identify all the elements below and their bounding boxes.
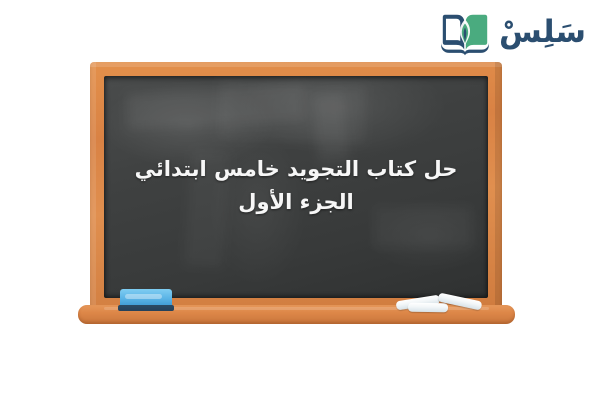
chalk-smudge (126, 85, 304, 130)
headline-line-2: الجزء الأول (118, 186, 474, 219)
open-book-with-pen-icon (439, 10, 491, 56)
page-canvas: سَلِسْ حل كتاب ال (0, 0, 600, 400)
chalk-smudge (312, 92, 350, 161)
site-logo[interactable]: سَلِسْ (439, 6, 586, 60)
chalk-stick-2 (408, 303, 448, 313)
headline-text: حل كتاب التجويد خامس ابتدائي الجزء الأول (104, 153, 488, 218)
board-eraser (120, 289, 172, 311)
blackboard-slate: حل كتاب التجويد خامس ابتدائي الجزء الأول (104, 76, 488, 298)
headline-line-1: حل كتاب التجويد خامس ابتدائي (118, 153, 474, 186)
blackboard-frame: حل كتاب التجويد خامس ابتدائي الجزء الأول (90, 62, 502, 312)
eraser-felt (118, 305, 174, 311)
blackboard: حل كتاب التجويد خامس ابتدائي الجزء الأول (78, 62, 515, 334)
eraser-body (120, 289, 172, 306)
chalk-smudge (218, 80, 366, 143)
brand-name: سَلِسْ (499, 17, 586, 48)
